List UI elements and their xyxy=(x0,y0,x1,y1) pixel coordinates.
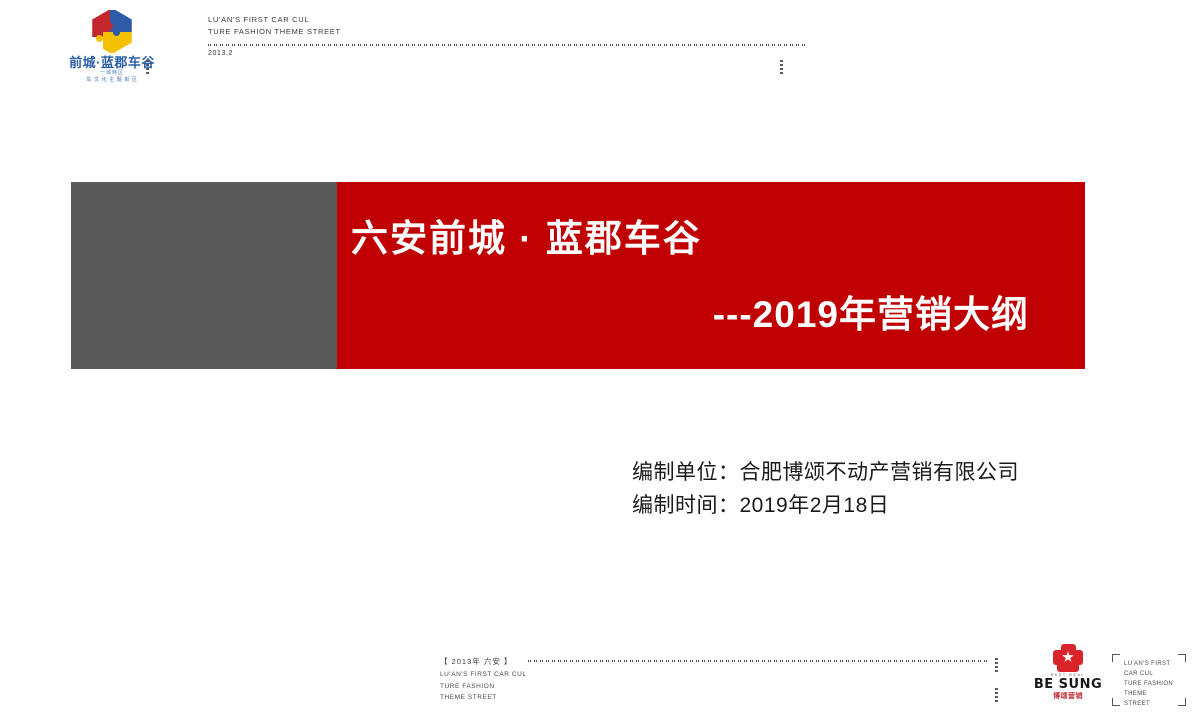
header-date: 2013.2 xyxy=(208,50,233,57)
header-dot-marker-right xyxy=(780,60,783,74)
brand-sub-line2: 车 文 化 主 题 街 区 xyxy=(62,77,162,84)
footer-dot-marker-top xyxy=(995,658,998,672)
corner-line2: CAR CUL xyxy=(1124,670,1173,680)
besung-name: BE SUNG xyxy=(1032,678,1104,692)
corner-line1: LU'AN'S FIRST xyxy=(1124,660,1173,670)
footer-corner-bracket-box: LU'AN'S FIRST CAR CUL TURE FASHION THEME… xyxy=(1112,654,1186,706)
header-en-line1: LU'AN'S FIRST CAR CUL xyxy=(208,14,341,26)
header-dotted-rule xyxy=(208,44,806,46)
besung-name-cn: 博颂营销 xyxy=(1032,692,1104,701)
bracket-corner-top-right xyxy=(1178,654,1186,662)
footer-dotted-rule xyxy=(528,660,988,662)
flower-star-icon xyxy=(1053,644,1083,672)
footer-year-tag: 【 2013年 六安 】 xyxy=(440,655,527,668)
bracket-corner-top-left xyxy=(1112,654,1120,662)
page-subtitle: ---2019年营销大纲 xyxy=(713,284,1029,338)
hexagon-puzzle-icon xyxy=(89,8,135,54)
header-en-line2: TURE FASHION THEME STREET xyxy=(208,26,341,38)
footer-dot-marker-bottom xyxy=(995,688,998,702)
title-gray-panel xyxy=(71,182,337,369)
footer-caption: 【 2013年 六安 】 LU'AN'S FIRST CAR CUL TURE … xyxy=(440,655,527,703)
bracket-corner-bottom-left xyxy=(1112,698,1120,706)
header-english-caption: LU'AN'S FIRST CAR CUL TURE FASHION THEME… xyxy=(208,14,341,37)
footer-en-line2: TURE FASHION xyxy=(440,681,527,692)
corner-line3: TURE FASHION xyxy=(1124,680,1173,690)
slide-footer: 【 2013年 六安 】 LU'AN'S FIRST CAR CUL TURE … xyxy=(0,640,1200,714)
page-title: 六安前城 · 蓝郡车谷 xyxy=(351,208,702,262)
bracket-corner-bottom-right xyxy=(1178,698,1186,706)
header-dot-marker-left xyxy=(146,60,149,74)
meta-prepared-by: 编制单位：合肥博颂不动产营销有限公司 xyxy=(632,457,1019,490)
corner-line4: THEME xyxy=(1124,690,1173,700)
brand-logo: 前城·蓝郡车谷 一城两区 车 文 化 主 题 街 区 xyxy=(62,8,162,88)
besung-logo: BEST REAL BE SUNG 博颂营销 xyxy=(1032,644,1104,701)
document-meta: 编制单位：合肥博颂不动产营销有限公司 编制时间：2019年2月18日 xyxy=(632,457,1019,522)
corner-line5: STREET xyxy=(1124,700,1173,710)
title-red-panel: 六安前城 · 蓝郡车谷 ---2019年营销大纲 xyxy=(337,182,1085,369)
footer-en-line3: THEME STREET xyxy=(440,692,527,703)
corner-caption: LU'AN'S FIRST CAR CUL TURE FASHION THEME… xyxy=(1124,660,1173,709)
slide-header: 前城·蓝郡车谷 一城两区 车 文 化 主 题 街 区 LU'AN'S FIRST… xyxy=(0,0,1200,110)
title-banner: 六安前城 · 蓝郡车谷 ---2019年营销大纲 xyxy=(71,182,1085,369)
footer-en-line1: LU'AN'S FIRST CAR CUL xyxy=(440,669,527,680)
meta-prepared-date: 编制时间：2019年2月18日 xyxy=(632,490,1019,523)
